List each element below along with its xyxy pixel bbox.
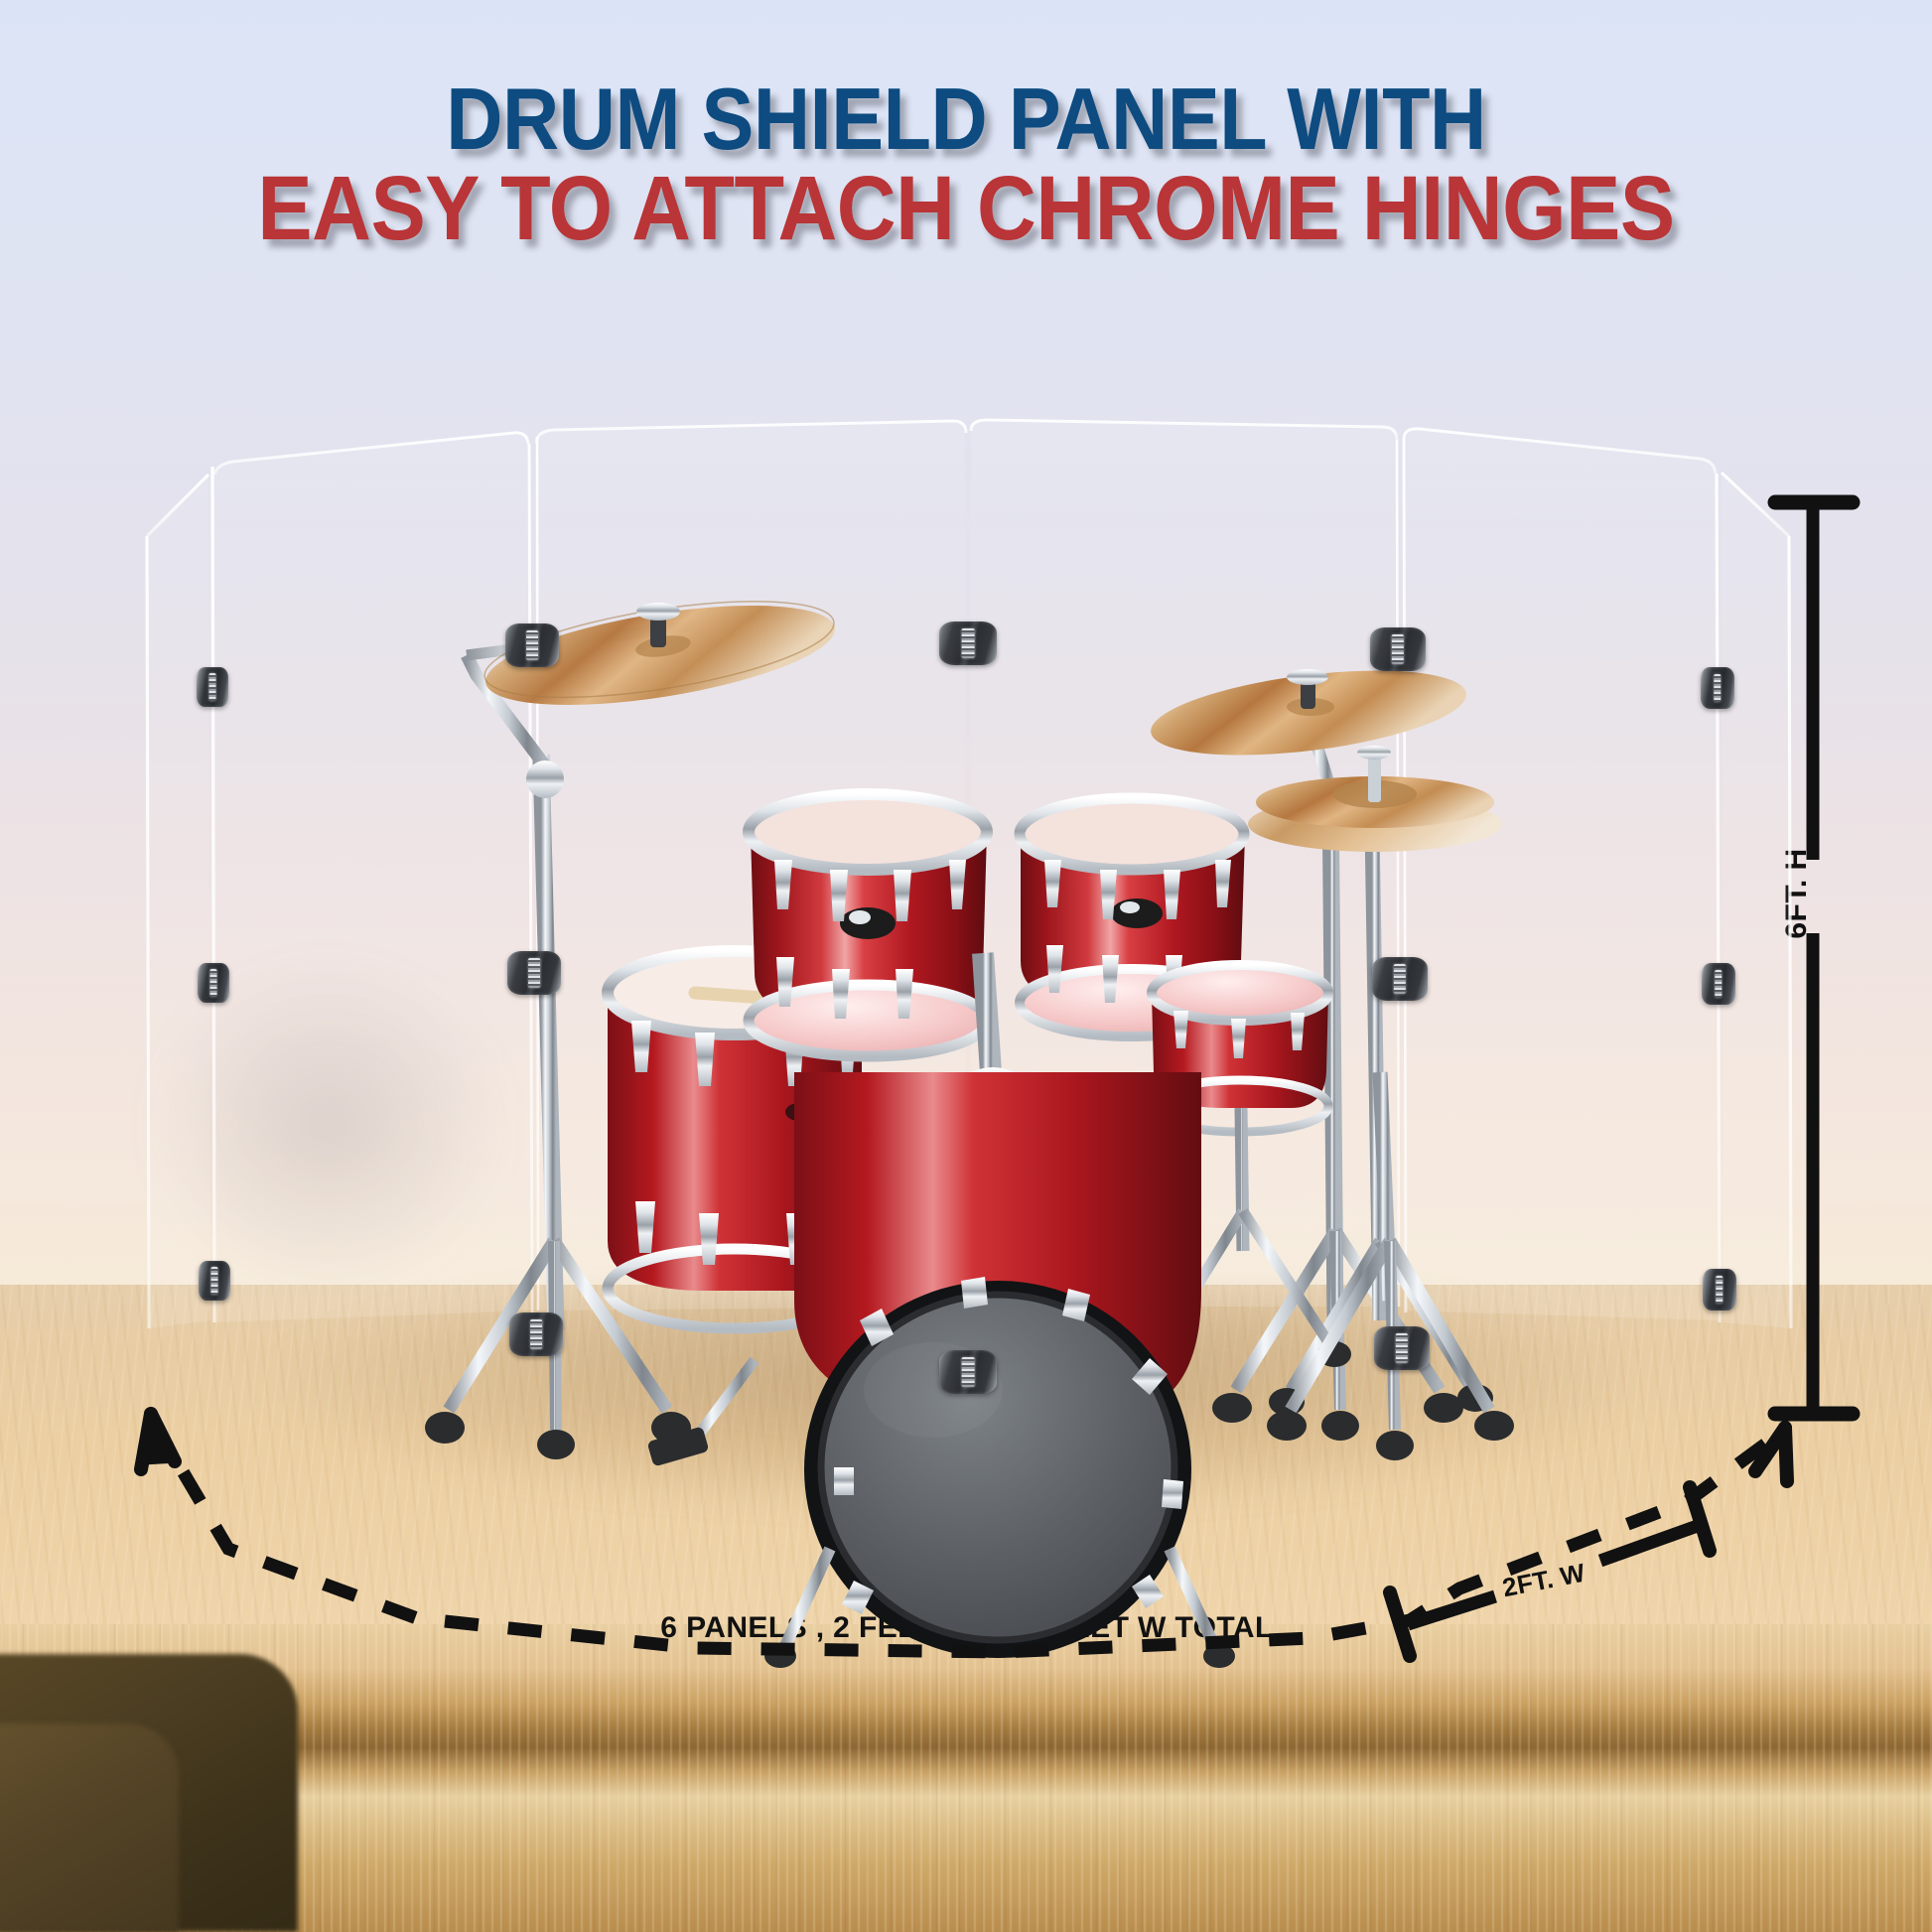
drum-kit-illustration (0, 0, 1932, 1932)
headline-line-1: DRUM SHIELD PANEL WITH (96, 77, 1835, 161)
hinge-clamp[interactable] (505, 623, 559, 667)
product-image-canvas: DRUM SHIELD PANEL WITH EASY TO ATTACH CH… (0, 0, 1932, 1932)
ride-cymbal-right (1147, 656, 1471, 769)
bass-drum (764, 1072, 1235, 1668)
hinge-clamp[interactable] (939, 621, 997, 665)
hinge-clamp[interactable] (199, 1261, 230, 1301)
hinge-clamp[interactable] (1370, 627, 1426, 671)
hinge-clamp[interactable] (939, 1350, 997, 1394)
hinge-clamp[interactable] (1372, 957, 1428, 1001)
hinge-clamp[interactable] (1703, 1269, 1736, 1311)
hinge-clamp[interactable] (1374, 1326, 1430, 1370)
hi-hat-cymbals (1248, 746, 1502, 852)
hinge-clamp[interactable] (507, 951, 561, 995)
hinge-clamp[interactable] (197, 667, 228, 707)
hinge-clamp[interactable] (1701, 667, 1734, 709)
headline-block: DRUM SHIELD PANEL WITH EASY TO ATTACH CH… (0, 77, 1932, 253)
headline-line-2: EASY TO ATTACH CHROME HINGES (96, 165, 1835, 252)
hinge-clamp[interactable] (1702, 963, 1735, 1005)
hinge-clamp[interactable] (198, 963, 229, 1003)
hinge-clamp[interactable] (509, 1312, 563, 1356)
